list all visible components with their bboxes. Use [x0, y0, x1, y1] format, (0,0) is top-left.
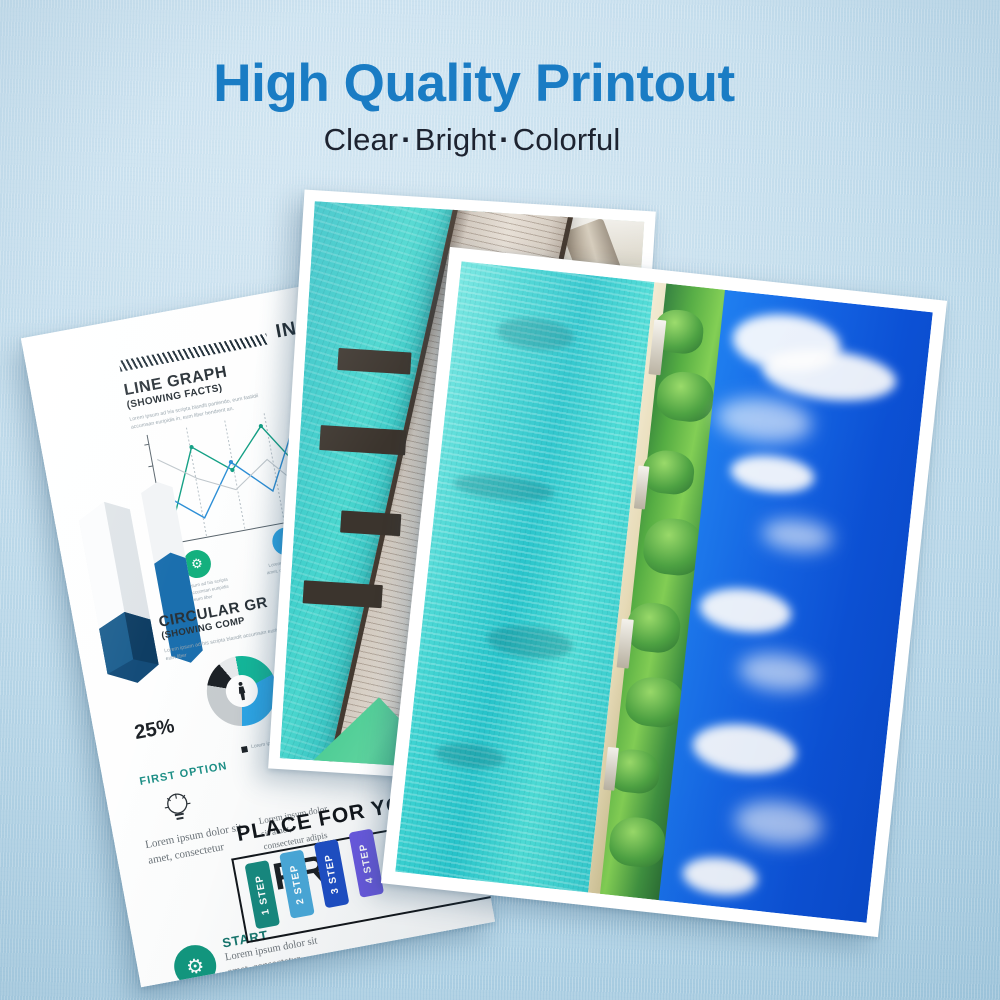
- headline-block: High Quality Printout Clear·Bright·Color…: [0, 56, 1000, 158]
- palm-canopy: [624, 675, 687, 730]
- cloud: [737, 650, 820, 695]
- subtitle-separator-2: ·: [496, 122, 512, 157]
- poster-canvas: High Quality Printout Clear·Bright·Color…: [0, 0, 1000, 1000]
- cloud: [729, 451, 816, 497]
- palm-canopy: [640, 448, 696, 496]
- photo-front-image: [395, 261, 933, 923]
- subtitle-part-colorful: Colorful: [513, 122, 621, 157]
- lightbulb-icon: [158, 785, 199, 831]
- cloud: [760, 344, 898, 407]
- first-option-label: FIRST OPTION: [139, 760, 229, 788]
- cloud: [681, 854, 760, 899]
- photo-print-lagoon: [381, 247, 947, 937]
- hatched-rule: [119, 334, 268, 372]
- palm-canopy: [607, 815, 667, 870]
- legend-swatch: [241, 746, 248, 753]
- palm-canopy: [624, 601, 682, 656]
- cloud: [714, 394, 814, 447]
- subtitle-part-bright: Bright: [415, 122, 497, 157]
- subtitle-part-clear: Clear: [324, 122, 399, 157]
- page-title: High Quality Printout: [0, 56, 1000, 112]
- pier-post: [340, 510, 401, 536]
- cloud: [760, 516, 834, 554]
- person-icon: [236, 679, 248, 702]
- cloud: [697, 584, 793, 637]
- cloud: [690, 719, 799, 779]
- cloud: [733, 798, 825, 850]
- subtitle-separator-1: ·: [398, 122, 414, 157]
- palm-canopy: [654, 369, 716, 424]
- page-subtitle: Clear·Bright·Colorful: [0, 122, 1000, 158]
